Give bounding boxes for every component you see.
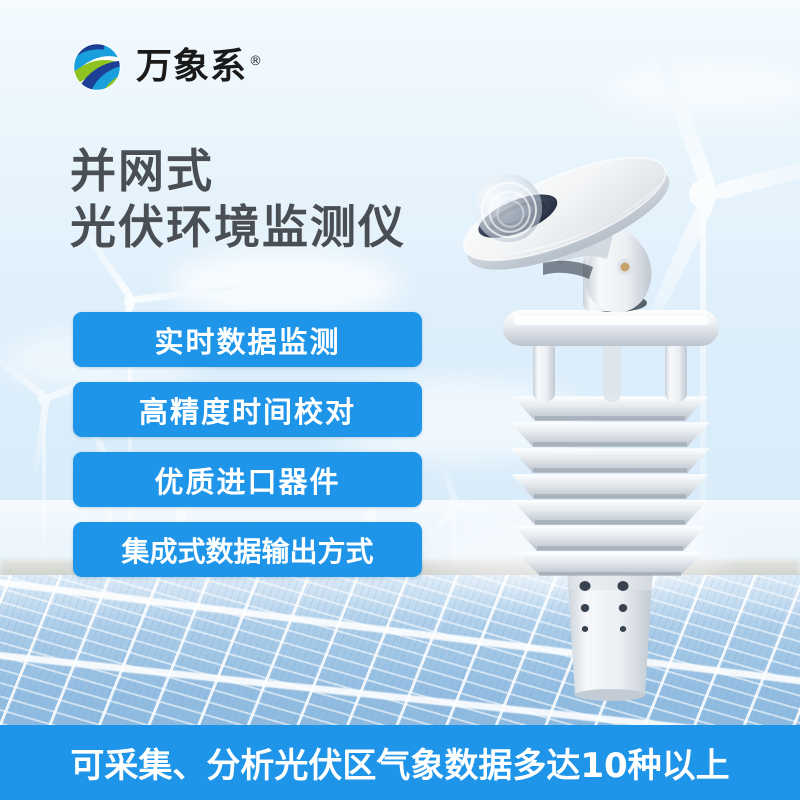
feature-label: 集成式数据输出方式: [121, 530, 373, 570]
support-post: [533, 340, 555, 402]
registered-mark: ®: [249, 54, 263, 69]
cross-bar-highlight: [513, 316, 709, 325]
louvered-radiation-shield: [511, 397, 709, 576]
cloud: [170, 250, 400, 320]
feature-pill-realtime-monitoring[interactable]: 实时数据监测: [73, 312, 422, 367]
feature-pill-imported-components[interactable]: 优质进口器件: [73, 452, 422, 507]
brand-lockup: 万象系®: [68, 38, 263, 96]
center-post: [603, 340, 621, 402]
feature-label: 高精度时间校对: [139, 389, 356, 431]
feature-label: 实时数据监测: [154, 319, 340, 361]
bottom-banner: 可采集、分析光伏区气象数据多达10种以上: [0, 725, 800, 800]
title-line-1: 并网式: [70, 143, 406, 199]
feature-label: 优质进口器件: [154, 459, 340, 501]
brand-name: 万象系®: [136, 49, 263, 85]
cross-bar: [503, 310, 719, 346]
bracket-screw: [621, 263, 630, 272]
page-title: 并网式 光伏环境监测仪: [70, 143, 406, 255]
banner-text: 可采集、分析光伏区气象数据多达10种以上: [70, 738, 729, 787]
support-post: [665, 340, 687, 402]
feature-pill-time-calibration[interactable]: 高精度时间校对: [73, 382, 422, 437]
globe-swirl-logo: [68, 38, 126, 96]
brand-name-text: 万象系: [136, 46, 247, 87]
product-image: [455, 135, 765, 720]
base-bottom: [575, 689, 645, 701]
title-line-2: 光伏环境监测仪: [70, 199, 406, 255]
product-poster: 万象系® 并网式 光伏环境监测仪 实时数据监测 高精度时间校对 优质进口器件 集…: [0, 0, 800, 800]
feature-list: 实时数据监测 高精度时间校对 优质进口器件 集成式数据输出方式: [73, 312, 422, 592]
feature-pill-integrated-data-output[interactable]: 集成式数据输出方式: [73, 522, 422, 577]
